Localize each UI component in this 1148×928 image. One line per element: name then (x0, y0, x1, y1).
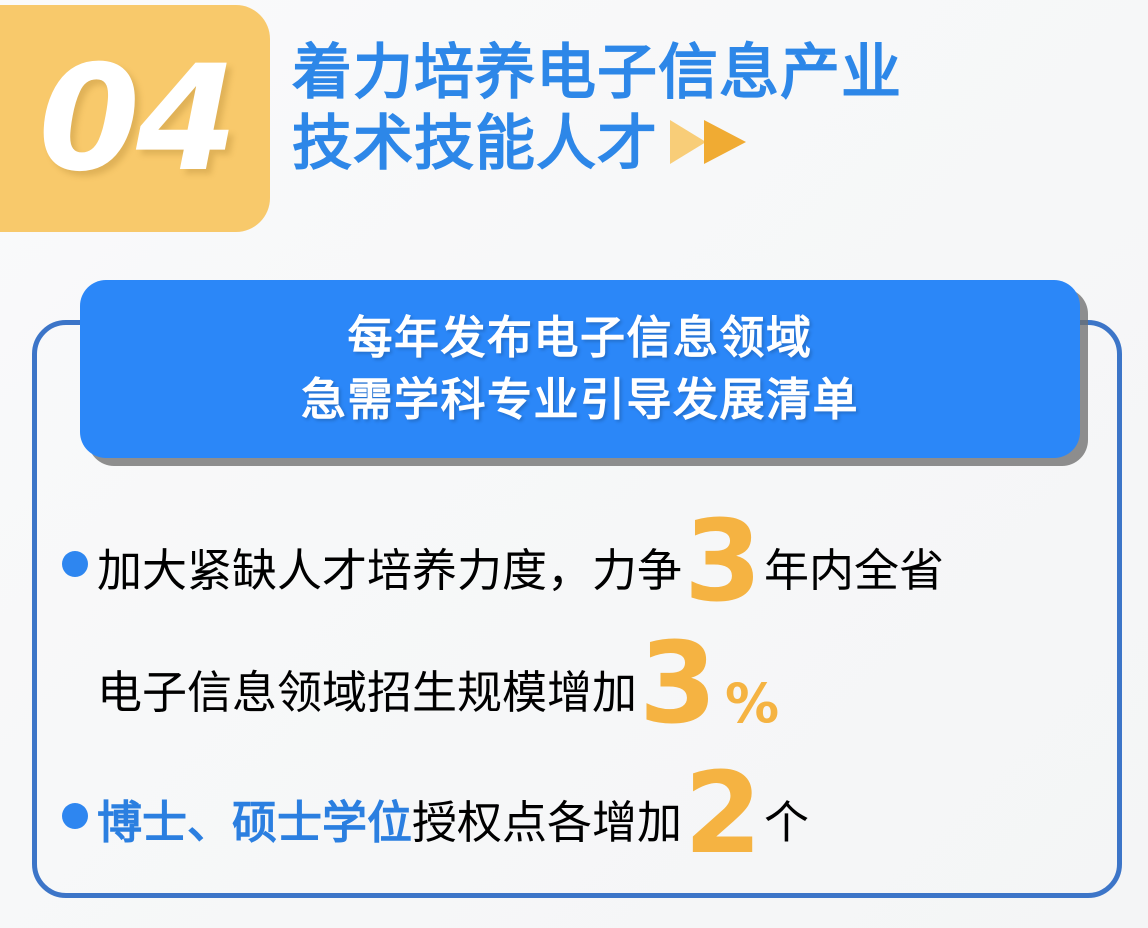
bullet-1-number-1: 3 (684, 512, 762, 613)
section-number-badge: 04 (0, 5, 270, 232)
bullet-dot-icon (62, 803, 88, 829)
page-title-line-2: 技术技能人才 (292, 109, 658, 179)
bullet-dot-icon (62, 551, 88, 577)
banner-line-2: 急需学科专业引导发展清单 (301, 369, 859, 431)
bullet-list: 加大紧缺人才培养力度，力争 3 年内全省 电子信息领域招生规模增加 3 % 博士… (62, 498, 1092, 878)
list-item: 博士、硕士学位 授权点各增加 2 个 (62, 750, 1092, 878)
bullet-2-text: 授权点各增加 (412, 768, 682, 878)
bullet-1-text-part-1: 加大紧缺人才培养力度，力争 (97, 516, 682, 626)
bullet-2-highlight-text: 博士、硕士学位 (97, 768, 412, 878)
bullet-1-percent-sign: % (725, 649, 779, 759)
bullet-row-1b: 电子信息领域招生规模增加 3 % (62, 620, 1092, 748)
banner-line-1: 每年发布电子信息领域 (347, 307, 812, 369)
page-title-line-1: 着力培养电子信息产业 (292, 38, 1132, 109)
page-title-line-2-wrap: 技术技能人才 (292, 109, 1132, 180)
double-chevron-right-icon (668, 116, 754, 168)
bullet-row-1a: 加大紧缺人才培养力度，力争 3 年内全省 (62, 498, 1092, 626)
bullet-2-suffix: 个 (764, 768, 809, 878)
bullet-1-number-2: 3 (639, 634, 717, 735)
bullet-2-number: 2 (684, 764, 762, 865)
bullet-1-text-part-3: 电子信息领域招生规模增加 (97, 638, 637, 748)
bullet-1-text-part-2: 年内全省 (764, 516, 944, 626)
page-title: 着力培养电子信息产业 技术技能人才 (292, 38, 1132, 180)
header: 04 着力培养电子信息产业 技术技能人才 (0, 0, 1148, 250)
banner-highlight: 每年发布电子信息领域 急需学科专业引导发展清单 (80, 280, 1080, 458)
bullet-row-2: 博士、硕士学位 授权点各增加 2 个 (62, 750, 1092, 878)
list-item: 加大紧缺人才培养力度，力争 3 年内全省 电子信息领域招生规模增加 3 % (62, 498, 1092, 748)
section-number-text: 04 (0, 5, 270, 232)
